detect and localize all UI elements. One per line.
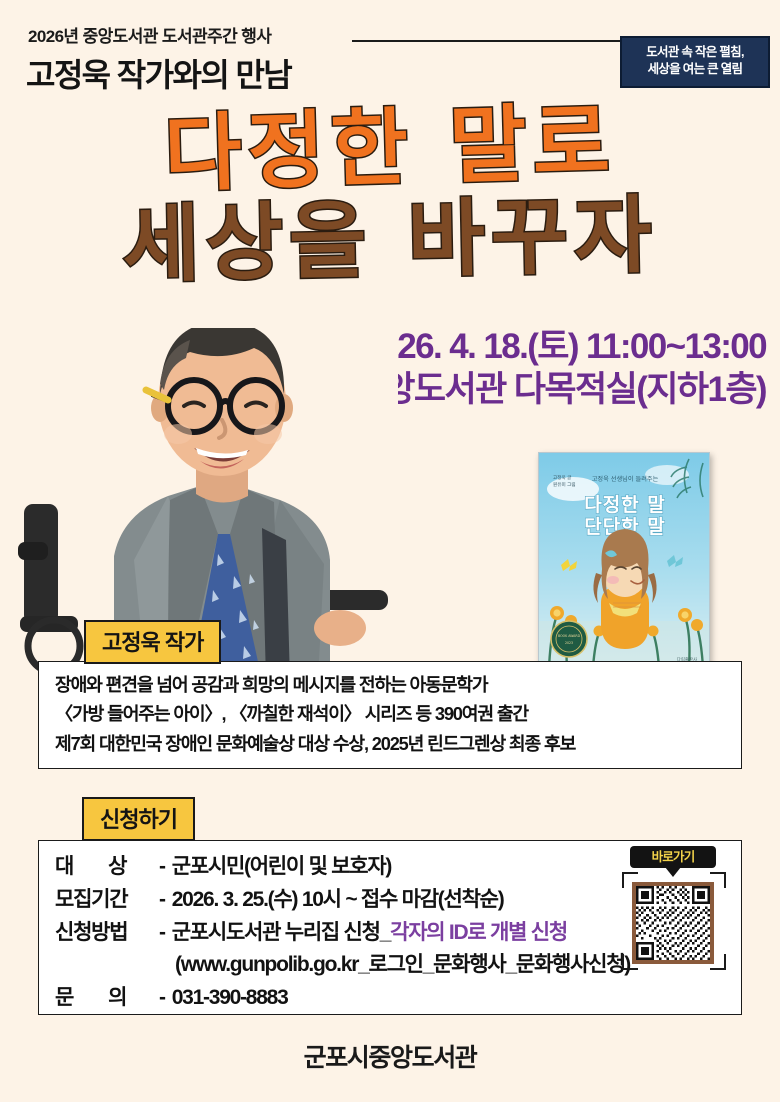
qr-code-block[interactable]: 바로가기 xyxy=(618,846,730,974)
apply-row-dash: - xyxy=(159,917,172,950)
apply-row-dash: - xyxy=(159,884,172,917)
event-details: 2026. 4. 18.(토) 11:00~13:00 중앙도서관 다목적실(지… xyxy=(353,326,766,411)
apply-row-value: 2026. 3. 25.(수) 10시 ~ 접수 마감(선착순) xyxy=(172,884,504,917)
apply-row-label: 모집기간 xyxy=(55,884,159,917)
poster-root: 2026년 중앙도서관 도서관주간 행사 고정욱 작가와의 만남 도서관 속 작… xyxy=(0,0,780,1102)
header-kicker: 2026년 중앙도서관 도서관주간 행사 xyxy=(28,22,271,47)
author-bio-box: 장애와 편견을 넘어 공감과 희망의 메시지를 전하는 아동문학가 〈가방 들어… xyxy=(38,661,742,769)
author-bio-line: 장애와 편견을 넘어 공감과 희망의 메시지를 전하는 아동문학가 xyxy=(55,671,727,700)
footer-organization: 군포시중앙도서관 xyxy=(0,1038,780,1074)
qr-tag-label: 바로가기 xyxy=(630,846,716,868)
svg-text:원유미 그림: 원유미 그림 xyxy=(553,481,576,488)
event-datetime: 2026. 4. 18.(토) 11:00~13:00 xyxy=(353,326,766,367)
author-bio-line: 〈가방 들어주는 아이〉, 〈까칠한 재석이〉 시리즈 등 390여권 출간 xyxy=(55,700,727,729)
page-title: 고정욱 작가와의 만남 xyxy=(26,50,291,96)
svg-text:고정욱 선생님이 들려주는: 고정욱 선생님이 들려주는 xyxy=(592,475,659,483)
apply-row-label: 신청방법 xyxy=(55,917,159,950)
apply-row-dash: - xyxy=(159,982,172,1015)
svg-text:BOOK AWARD: BOOK AWARD xyxy=(558,634,581,638)
main-title-line-2: 세상을 바꾸자 xyxy=(0,189,780,292)
author-tab-label: 고정욱 작가 xyxy=(84,620,221,664)
apply-phone-number: 031-390-8883 xyxy=(172,982,288,1015)
apply-row-value: 군포시도서관 누리집 신청_ xyxy=(172,917,390,950)
event-venue: 중앙도서관 다목적실(지하1층) xyxy=(353,369,766,410)
apply-row-note: 각자의 ID로 개별 신청 xyxy=(390,917,567,950)
slogan-line-2: 세상을 여는 큰 열림 xyxy=(628,61,762,78)
main-title-line-1: 다정한 말로 xyxy=(0,93,780,203)
apply-website-url[interactable]: (www.gunpolib.go.kr_로그인_문화행사_문화행사신청) xyxy=(175,949,630,982)
slogan-line-1: 도서관 속 작은 펼침, xyxy=(628,44,762,61)
apply-row-contact: 문 의 - 031-390-8883 xyxy=(55,982,741,1015)
svg-text:다정한 말: 다정한 말 xyxy=(584,494,666,516)
main-title: 다정한 말로 세상을 바꾸자 xyxy=(0,104,780,284)
author-bio-line: 제7회 대한민국 장애인 문화예술상 대상 수상, 2025년 린드그렌상 최종… xyxy=(55,730,727,759)
apply-row-dash: - xyxy=(159,851,172,884)
svg-text:고정욱 글: 고정욱 글 xyxy=(553,474,571,481)
apply-row-label: 문 의 xyxy=(55,982,159,1015)
apply-row-value: 군포시민(어린이 및 보호자) xyxy=(172,851,391,884)
slogan-badge: 도서관 속 작은 펼침, 세상을 여는 큰 열림 xyxy=(620,36,770,88)
apply-tab-label: 신청하기 xyxy=(82,797,195,841)
book-cover: 고정욱 선생님이 들려주는 고정욱 글 원유미 그림 다정한 말 단단한 말 xyxy=(538,452,710,666)
qr-code-icon[interactable] xyxy=(632,882,714,964)
svg-text:2023: 2023 xyxy=(565,641,573,645)
apply-row-label: 대 상 xyxy=(55,851,159,884)
